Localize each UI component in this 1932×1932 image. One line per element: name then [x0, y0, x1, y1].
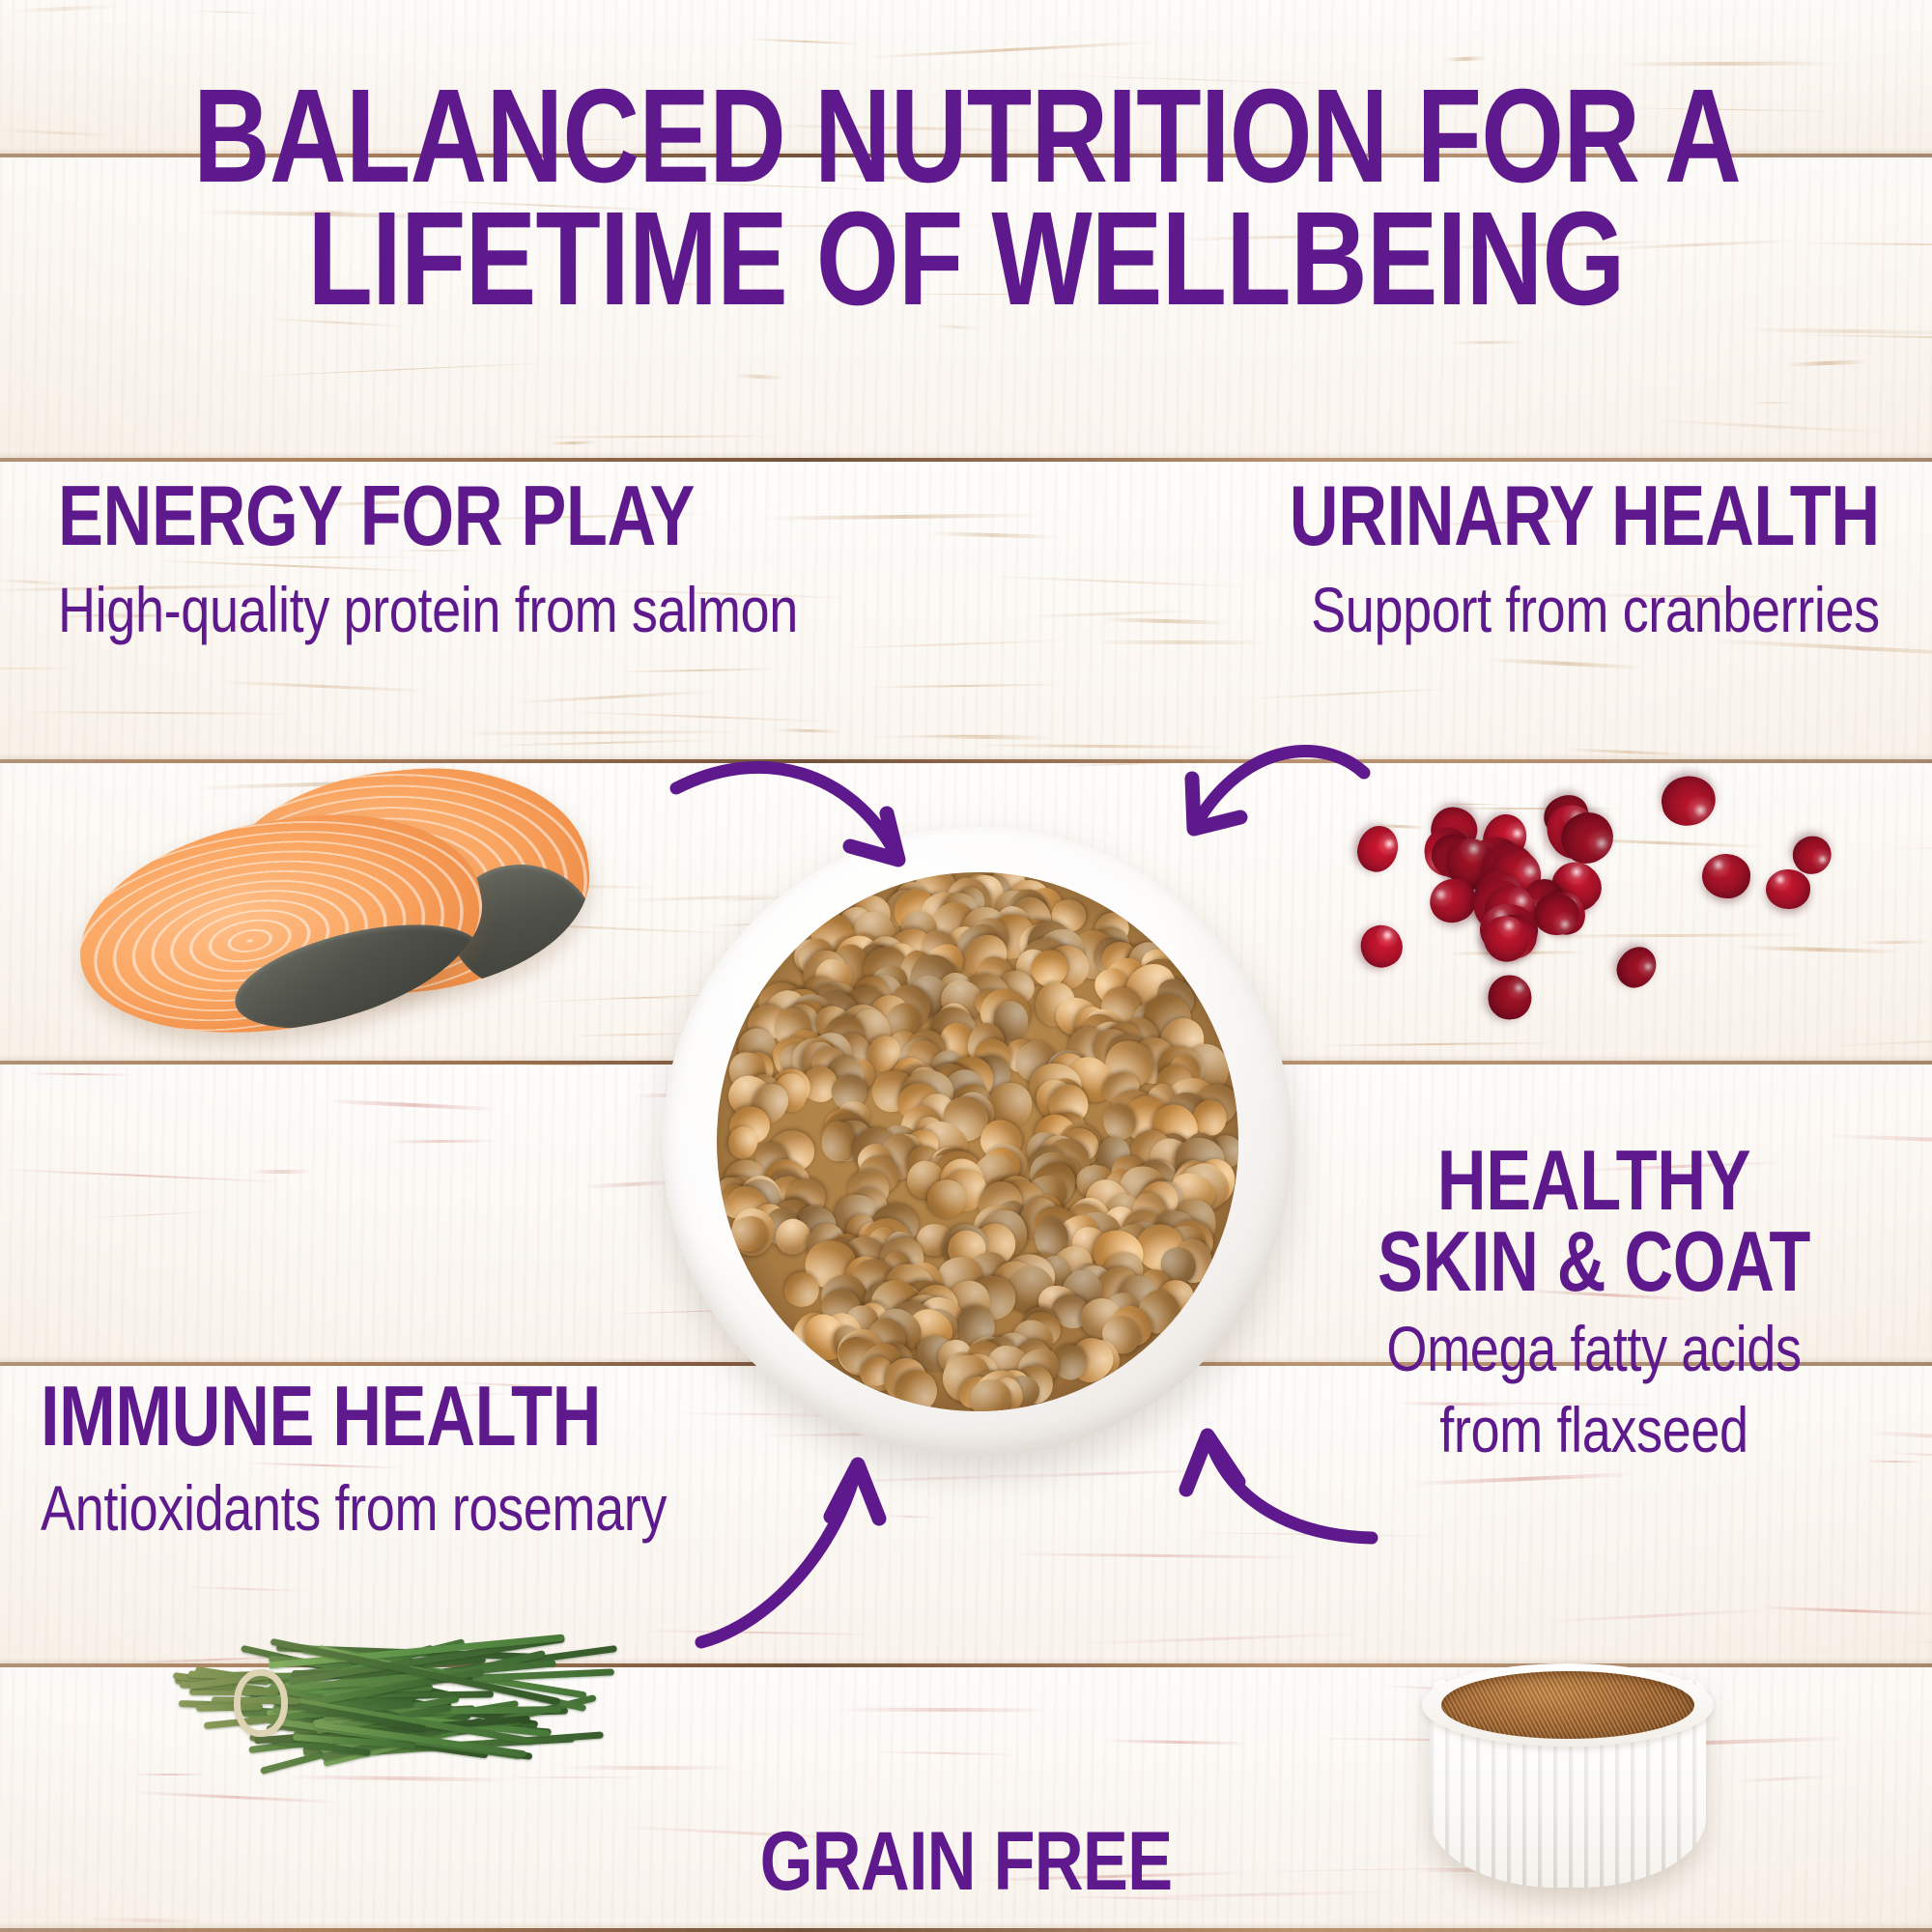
flaxseed-fill: [1441, 1671, 1694, 1739]
cranberry: [1700, 852, 1751, 899]
cranberry: [1657, 772, 1719, 831]
grain-free-claim: GRAIN FREE: [174, 1814, 1758, 1910]
cranberries-image: [1343, 744, 1845, 1014]
benefit-heading-line-1: HEALTHY: [1339, 1140, 1849, 1221]
cranberry: [1608, 939, 1663, 995]
benefit-subtext-line-1: Omega fatty acids: [1332, 1317, 1855, 1381]
benefit-heading: IMMUNE HEALTH: [41, 1376, 651, 1457]
kibble-bowl: [663, 827, 1293, 1457]
benefit-healthy-skin-and-coat: HEALTHY SKIN & COAT Omega fatty acids fr…: [1275, 1140, 1913, 1463]
benefit-energy-for-play: ENERGY FOR PLAY High-quality protein fro…: [58, 475, 960, 642]
benefit-immune-health: IMMUNE HEALTH Antioxidants from rosemary: [41, 1376, 804, 1541]
rosemary-image: [145, 1615, 686, 1808]
salmon-steak: [63, 787, 498, 1063]
cranberry: [1351, 820, 1404, 876]
cranberry: [1766, 869, 1811, 910]
benefit-urinary-health: URINARY HEALTH Support from cranberries: [1142, 475, 1880, 642]
rosemary-twine: [234, 1669, 288, 1737]
headline-line-2: LIFETIME OF WELLBEING: [193, 198, 1739, 321]
benefit-subtext: High-quality protein from salmon: [58, 578, 798, 642]
salmon-image: [68, 761, 628, 1051]
product-benefits-infographic: BALANCED NUTRITION FOR A LIFETIME OF WEL…: [0, 0, 1932, 1932]
benefit-subtext: Antioxidants from rosemary: [41, 1476, 667, 1541]
headline-line-1: BALANCED NUTRITION FOR A: [193, 75, 1739, 198]
kibble-pile: [717, 872, 1238, 1411]
benefit-heading: URINARY HEALTH: [1290, 475, 1880, 556]
benefit-heading: ENERGY FOR PLAY: [58, 475, 780, 556]
kibble-piece: [926, 1179, 968, 1219]
cranberry: [1353, 919, 1408, 975]
benefit-subtext-line-2: from flaxseed: [1332, 1398, 1855, 1463]
benefit-heading-line-2: SKIN & COAT: [1339, 1221, 1849, 1302]
cranberry: [1534, 894, 1579, 935]
benefit-subtext: Support from cranberries: [1275, 578, 1880, 642]
